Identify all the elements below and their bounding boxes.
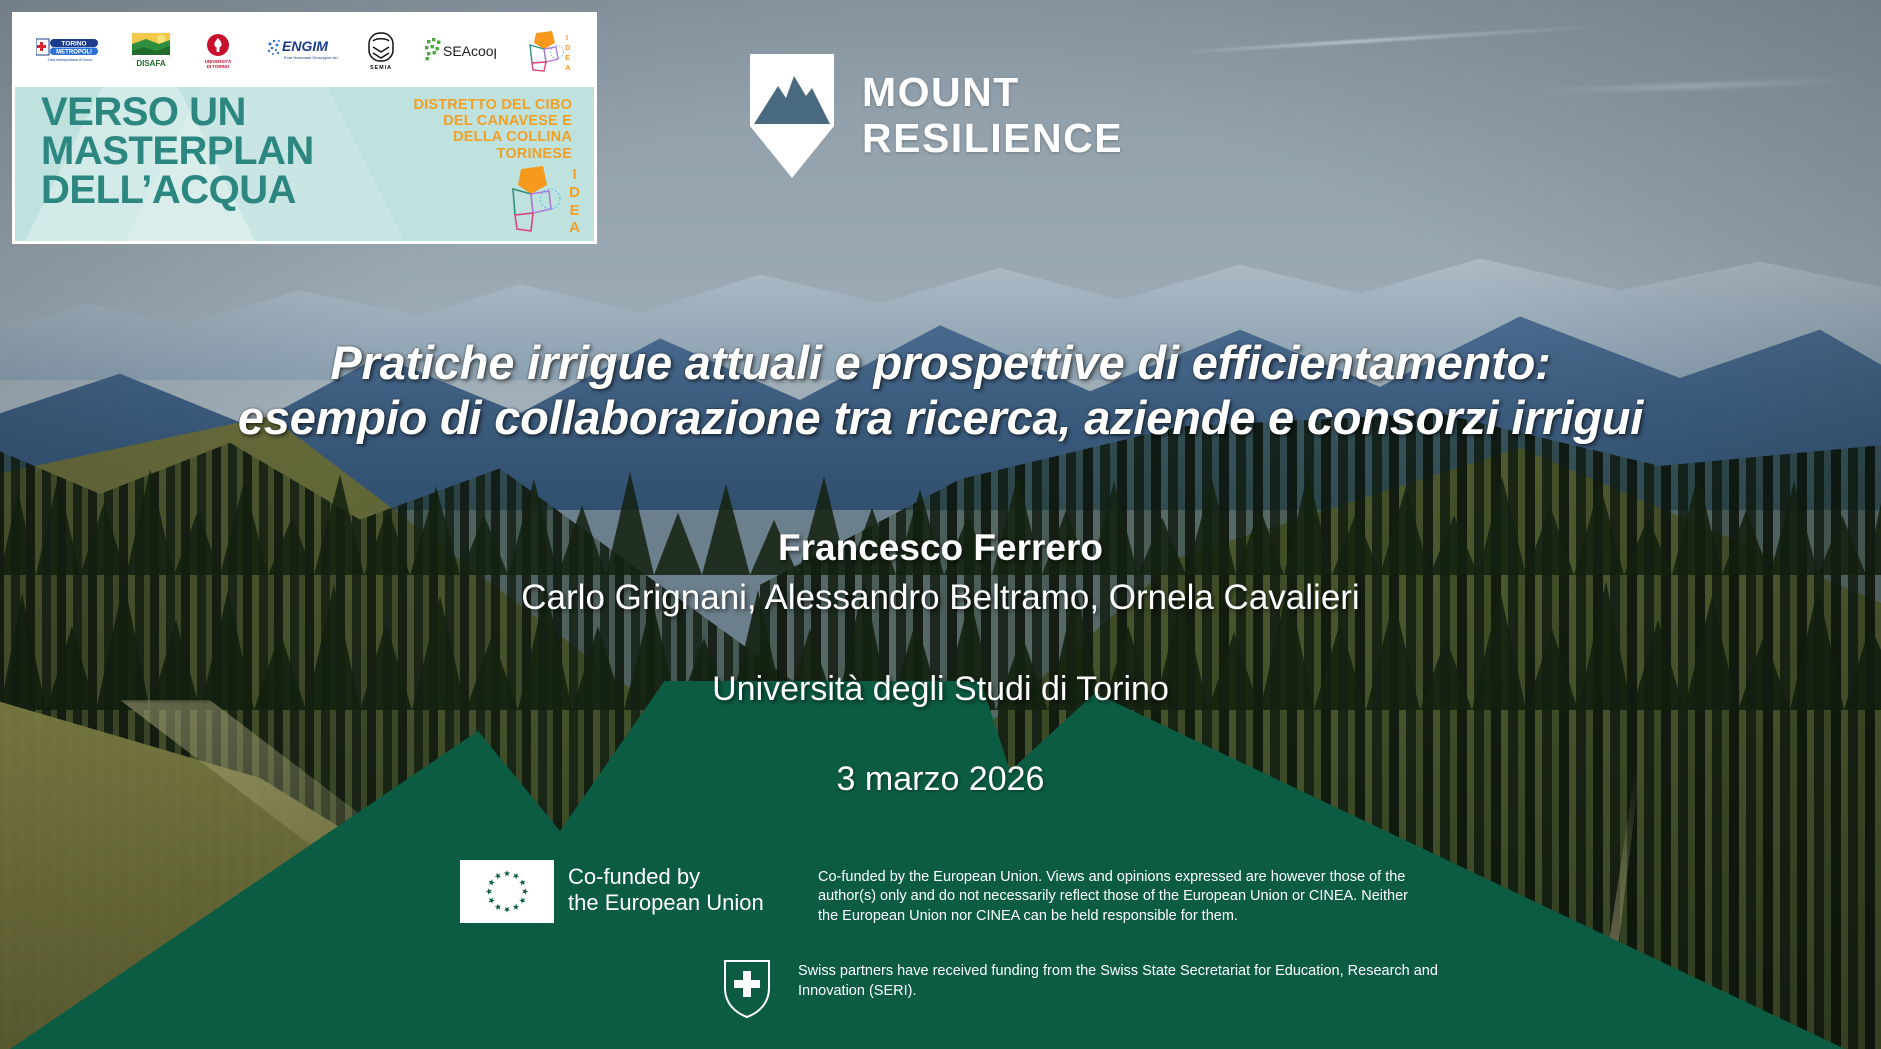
title-line-2: esempio di collaborazione tra ricerca, a…	[20, 391, 1861, 446]
logo-line-mount: MOUNT	[862, 70, 1123, 116]
idea-map-icon	[505, 163, 563, 237]
idea-letter-e: E	[569, 202, 580, 220]
svg-text:SEAcoop: SEAcoop	[443, 43, 496, 59]
svg-text:METROPOLI: METROPOLI	[56, 49, 92, 55]
idea-letters: I D E A	[569, 166, 580, 237]
mount-resilience-logo: MOUNT RESILIENCE	[748, 52, 1123, 180]
mount-resilience-wordmark: MOUNT RESILIENCE	[862, 70, 1123, 162]
banner-headline-line-3: DELL’ACQUA	[41, 171, 314, 210]
svg-text:TORINO: TORINO	[61, 41, 86, 48]
logo-line-resilience: RESILIENCE	[862, 116, 1123, 162]
banner-headline-line-1: VERSO UN	[41, 93, 314, 132]
svg-text:E: E	[565, 53, 570, 62]
svg-text:DISAFA: DISAFA	[136, 59, 166, 68]
svg-text:ENGIM: ENGIM	[282, 38, 328, 54]
swiss-funding-block: Swiss partners have received funding fro…	[722, 958, 1498, 1020]
coauthor-names: Carlo Grignani, Alessandro Beltramo, Orn…	[0, 578, 1881, 618]
svg-text:I: I	[566, 33, 568, 42]
eu-flag-icon	[460, 860, 554, 923]
district-line-2: DEL CANAVESE E	[413, 113, 572, 129]
presentation-date: 3 marzo 2026	[0, 760, 1881, 799]
eu-disclaimer-text: Co-funded by the European Union. Views a…	[818, 868, 1418, 926]
banner-headline: VERSO UN MASTERPLAN DELL’ACQUA	[41, 93, 314, 211]
page-title: Pratiche irrigue attuali e prospettive d…	[0, 336, 1881, 446]
banner-headline-line-2: MASTERPLAN	[41, 132, 314, 171]
eu-funding-label: Co-funded by the European Union	[568, 864, 764, 916]
semia-logo: SEMIA	[364, 31, 398, 71]
swiss-shield-icon	[722, 958, 772, 1020]
district-line-4: TORINESE	[413, 146, 572, 162]
svg-text:DI TORINO: DI TORINO	[206, 64, 229, 69]
district-line-3: DELLA COLLINA	[413, 129, 572, 145]
partner-logo-strip: TORINO METROPOLI Città metropolitana di …	[15, 15, 594, 87]
svg-text:Ente Nazionale Giuseppini del: Ente Nazionale Giuseppini del Murialdo	[284, 55, 338, 60]
mountain-shield-icon	[748, 52, 836, 180]
svg-text:Città metropolitana di Torino: Città metropolitana di Torino	[47, 58, 92, 62]
district-label: DISTRETTO DEL CIBO DEL CANAVESE E DELLA …	[413, 97, 572, 162]
idea-logo: IDEA	[522, 29, 574, 73]
presenter-name: Francesco Ferrero	[0, 527, 1881, 569]
eu-label-line-1: Co-funded by	[568, 864, 764, 890]
idea-badge: I D E A	[505, 163, 580, 237]
eu-label-line-2: the European Union	[568, 890, 764, 916]
svg-text:D: D	[565, 43, 571, 52]
idea-letter-a: A	[569, 219, 580, 237]
svg-text:SEMIA: SEMIA	[369, 65, 391, 71]
title-line-1: Pratiche irrigue attuali e prospettive d…	[20, 336, 1861, 391]
universita-di-torino-logo: UNIVERSITÀ DI TORINO	[198, 31, 238, 71]
event-banner: TORINO METROPOLI Città metropolitana di …	[12, 12, 597, 244]
presentation-slide: TORINO METROPOLI Città metropolitana di …	[0, 0, 1881, 1049]
banner-body: VERSO UN MASTERPLAN DELL’ACQUA DISTRETTO…	[15, 81, 594, 241]
idea-letter-i: I	[569, 166, 580, 184]
idea-letter-d: D	[569, 184, 580, 202]
disafa-logo: DISAFA	[130, 32, 172, 70]
district-line-1: DISTRETTO DEL CIBO	[413, 97, 572, 113]
swiss-funding-text: Swiss partners have received funding fro…	[798, 962, 1498, 1001]
seacoop-logo: SEAcoop	[424, 37, 496, 65]
engim-logo: ENGIM Ente Nazionale Giuseppini del Muri…	[264, 35, 338, 67]
svg-text:A: A	[565, 63, 571, 72]
torino-metropoli-logo: TORINO METROPOLI Città metropolitana di …	[36, 36, 104, 66]
affiliation: Università degli Studi di Torino	[0, 670, 1881, 709]
